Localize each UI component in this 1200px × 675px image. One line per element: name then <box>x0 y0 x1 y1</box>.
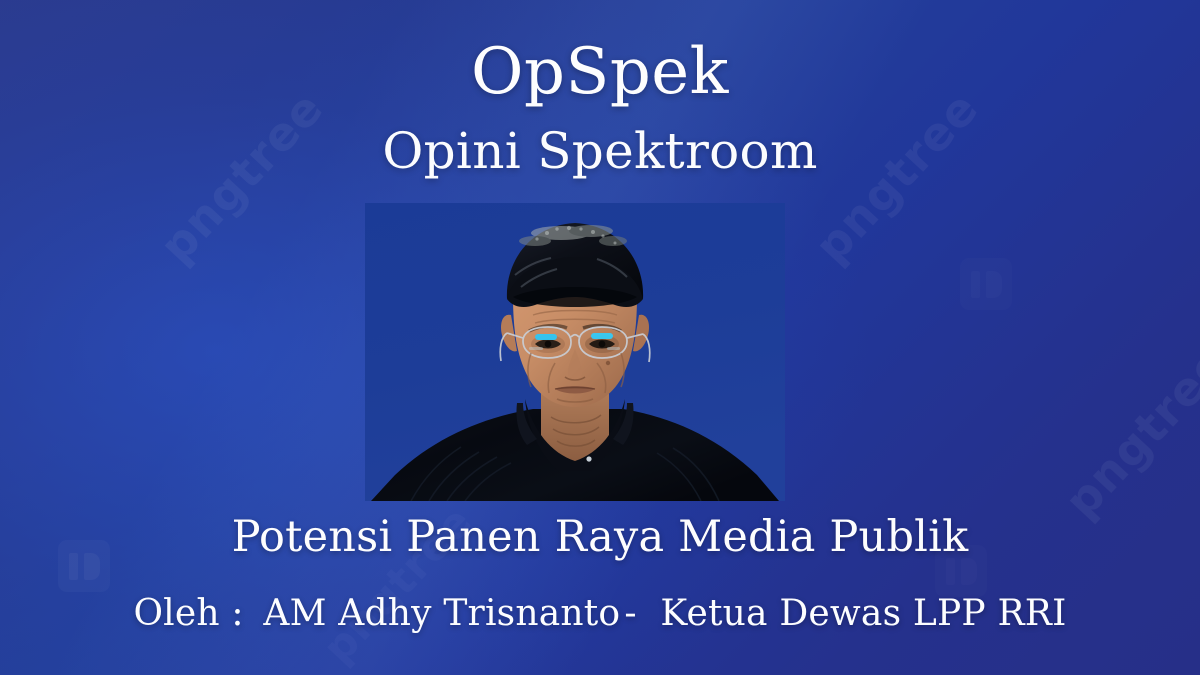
program-subtitle: Opini Spektroom <box>0 126 1200 176</box>
speaker-portrait <box>365 203 785 501</box>
program-title: OpSpek <box>0 40 1200 104</box>
byline: Oleh : AM Adhy Trisnanto- Ketua Dewas LP… <box>0 596 1200 632</box>
topic-title: Potensi Panen Raya Media Publik <box>0 516 1200 559</box>
byline-prefix: Oleh : <box>133 593 243 634</box>
pngtree-logo-mark-icon <box>960 258 1012 310</box>
portrait-illustration <box>365 203 785 501</box>
title-block: OpSpek Opini Spektroom <box>0 40 1200 176</box>
pngtree-watermark: pngtree <box>1054 336 1200 528</box>
byline-role: Ketua Dewas LPP RRI <box>660 593 1066 634</box>
byline-dash: - <box>620 593 640 634</box>
title-slide: pngtree pngtree pngtree pngtree OpSpek O… <box>0 0 1200 675</box>
byline-author: AM Adhy Trisnanto <box>263 593 620 634</box>
